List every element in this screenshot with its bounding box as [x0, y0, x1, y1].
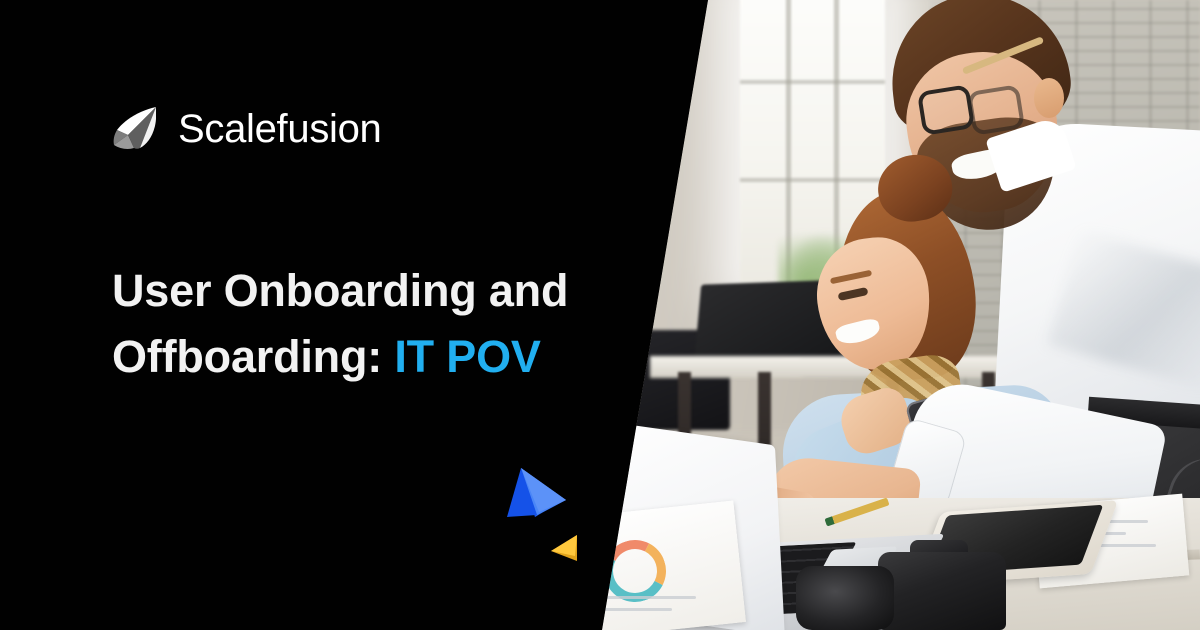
social-share-banner: Scalefusion User Onboarding and Offboard…	[0, 0, 1200, 630]
headline-line-2-plain: Offboarding:	[112, 331, 382, 382]
yellow-triangle-light-facet	[551, 535, 577, 556]
scalefusion-leaf-icon	[112, 105, 158, 153]
window-mullion	[740, 80, 885, 84]
man-ear	[1034, 78, 1064, 118]
page-title: User Onboarding and Offboarding: IT POV	[112, 258, 632, 390]
brand-wordmark: Scalefusion	[178, 109, 382, 149]
headline-accent: IT POV	[394, 331, 540, 382]
headline-line-1: User Onboarding and	[112, 258, 632, 324]
brand-logo[interactable]: Scalefusion	[112, 105, 382, 153]
headline-line-2: Offboarding: IT POV	[112, 324, 632, 390]
dslr-camera	[878, 552, 1006, 630]
paper-text-line	[600, 608, 672, 611]
paper-text-line	[600, 596, 696, 599]
glasses-lens	[917, 84, 975, 136]
camera-lens	[796, 566, 894, 630]
window-mullion	[740, 178, 885, 182]
decorative-triangles	[487, 455, 607, 575]
